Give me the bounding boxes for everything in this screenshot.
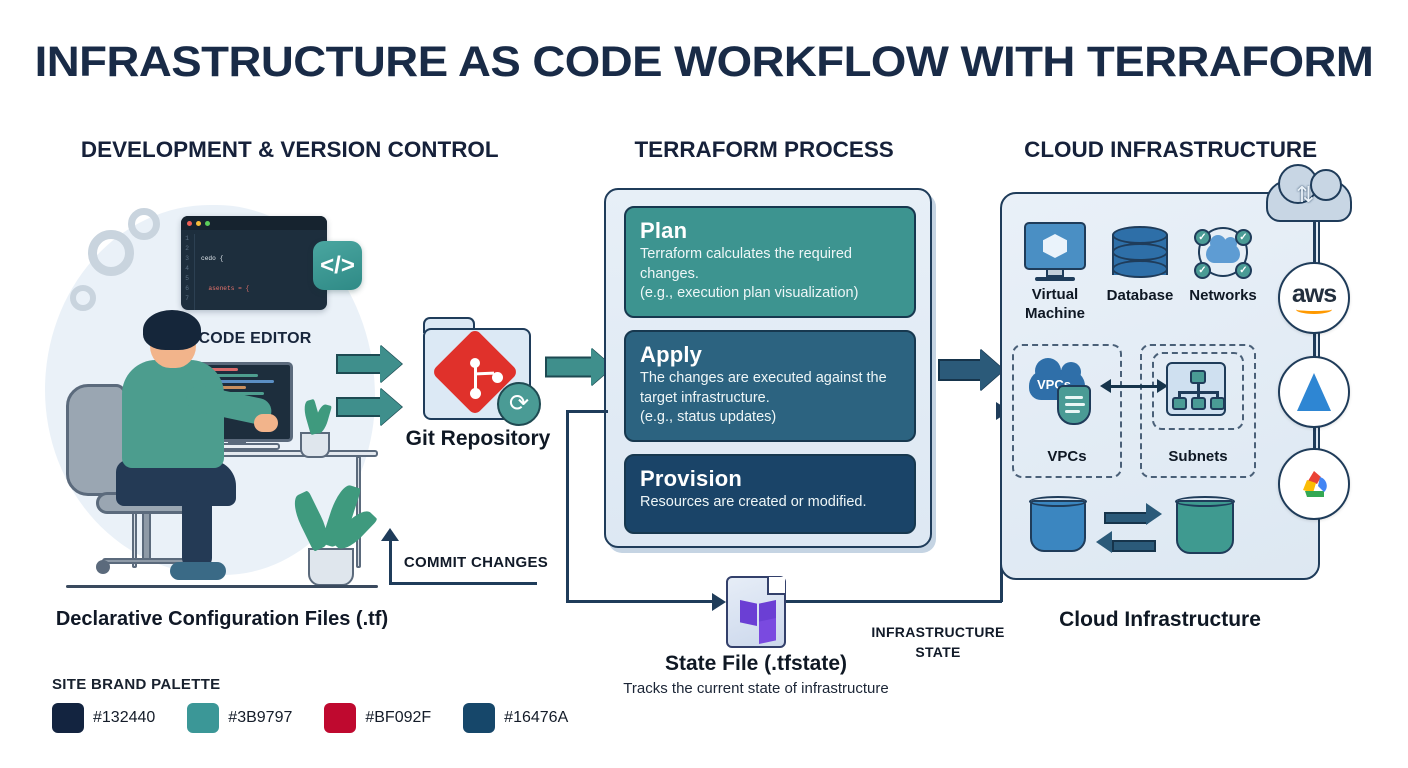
code-line: cedo {: [201, 254, 279, 264]
editor-titlebar: [181, 216, 327, 230]
state-connector-arrow: [712, 593, 726, 611]
arrow-dev-to-git-2: [336, 388, 404, 426]
process-card-provision[interactable]: Provision Resources are created or modif…: [624, 454, 916, 534]
palette-swatch: [324, 703, 356, 733]
gear-icon: [128, 208, 160, 240]
terraform-logo-icon: [759, 618, 776, 644]
state-connector-tap: [566, 410, 608, 413]
networks-icon: ✓ ✓ ✓ ✓: [1192, 226, 1254, 282]
resource-networks[interactable]: ✓ ✓ ✓ ✓ Networks: [1181, 226, 1265, 305]
palette-item: #132440: [52, 703, 155, 733]
process-card-apply[interactable]: Apply The changes are executed against t…: [624, 330, 916, 442]
plant-pot-icon: [308, 548, 354, 586]
bucket-arrow-left-head: [1096, 531, 1112, 553]
declarative-config-caption: Declarative Configuration Files (.tf): [52, 606, 392, 633]
vpc-subnet-bidirectional-arrow: [1110, 385, 1158, 388]
google-cloud-icon: [1294, 468, 1334, 500]
page-fold: [767, 577, 785, 595]
commit-connector-horizontal: [389, 582, 537, 585]
code-line: asenets = {: [201, 284, 279, 294]
palette-item: #BF092F: [324, 703, 431, 733]
line-number-gutter: 1 2 3 4 5 6 7: [181, 234, 195, 310]
section-heading-process: TERRAFORM PROCESS: [634, 137, 893, 163]
storage-bucket-teal-icon: [1176, 500, 1234, 554]
line-number: 7: [181, 294, 189, 304]
code-editor-window: 1 2 3 4 5 6 7 cedo { asenets = { name = …: [181, 216, 327, 310]
azure-logo[interactable]: [1278, 356, 1350, 428]
page-title: INFRASTRUCTURE AS CODE WORKFLOW WITH TER…: [0, 38, 1408, 87]
process-card-plan[interactable]: Plan Terraform calculates the required c…: [624, 206, 916, 318]
bucket-arrow-right-head: [1146, 503, 1162, 525]
line-number: 6: [181, 284, 189, 294]
arrow-dev-to-git-1: [336, 345, 404, 383]
line-number: 1: [181, 234, 189, 244]
infra-state-line-horizontal: [786, 600, 1002, 603]
resource-label: Database: [1098, 286, 1182, 305]
process-card-title: Provision: [640, 466, 900, 492]
state-connector-horizontal: [566, 600, 718, 603]
process-card-title: Apply: [640, 342, 900, 368]
commit-changes-label: COMMIT CHANGES: [398, 552, 554, 573]
palette-hex: #16476A: [504, 709, 568, 727]
gear-icon: [70, 285, 96, 311]
virtual-machine-icon: [1024, 222, 1086, 270]
resource-label: Virtual Machine: [1013, 285, 1097, 323]
terraform-logo-icon: [740, 600, 757, 626]
palette-hex: #3B9797: [228, 709, 292, 727]
process-card-title: Plan: [640, 218, 900, 244]
process-card-body: Terraform calculates the required change…: [640, 245, 900, 304]
sync-icon: ⟳: [497, 382, 541, 426]
chair-post: [142, 512, 151, 562]
process-card-body: Resources are created or modified.: [640, 493, 900, 513]
maximize-icon: [205, 221, 210, 226]
person-shin: [182, 490, 212, 568]
bucket-arrow-left: [1112, 540, 1156, 552]
code-area: 1 2 3 4 5 6 7 cedo { asenets = { name = …: [181, 230, 327, 310]
bucket-arrow-right: [1104, 512, 1148, 524]
palette-item: #16476A: [463, 703, 568, 733]
resource-label: Networks: [1181, 286, 1265, 305]
palette-swatch: [52, 703, 84, 733]
code-editor-label: CODE EDITOR: [181, 330, 329, 348]
process-card-body: The changes are executed against the tar…: [640, 369, 900, 428]
gear-icon: [88, 230, 134, 276]
git-repository-label: Git Repository: [400, 425, 556, 453]
section-heading-cloud: CLOUD INFRASTRUCTURE: [1024, 137, 1317, 163]
commit-connector-vertical: [389, 540, 392, 584]
database-icon: [1112, 226, 1168, 282]
state-file-icon: [726, 576, 786, 648]
shield-icon: [1057, 385, 1091, 425]
state-file-subtitle: Tracks the current state of infrastructu…: [620, 678, 892, 699]
person-hair: [143, 310, 201, 350]
palette-hex: #BF092F: [365, 709, 431, 727]
storage-bucket-blue-icon: [1030, 500, 1086, 552]
provider-connector-line: [1313, 222, 1316, 468]
minimize-icon: [196, 221, 201, 226]
line-number: 2: [181, 244, 189, 254]
palette-swatch: [463, 703, 495, 733]
state-connector-vertical: [566, 410, 569, 602]
google-cloud-logo[interactable]: [1278, 448, 1350, 520]
terraform-process-panel: Plan Terraform calculates the required c…: [604, 188, 932, 548]
line-number: 3: [181, 254, 189, 264]
state-file-title: State File (.tfstate): [620, 652, 892, 676]
section-heading-development: DEVELOPMENT & VERSION CONTROL: [81, 137, 499, 163]
commit-connector-arrow: [381, 528, 399, 541]
azure-icon: [1297, 373, 1331, 411]
line-number: 4: [181, 264, 189, 274]
palette-item: #3B9797: [187, 703, 292, 733]
floor-line: [66, 585, 378, 588]
resource-virtual-machine[interactable]: Virtual Machine: [1013, 222, 1097, 323]
aws-logo[interactable]: aws: [1278, 262, 1350, 334]
infographic-canvas: INFRASTRUCTURE AS CODE WORKFLOW WITH TER…: [0, 0, 1408, 768]
cloud-infrastructure-caption: Cloud Infrastructure: [1000, 608, 1320, 632]
resource-database[interactable]: Database: [1098, 226, 1182, 305]
palette-hex: #132440: [93, 709, 155, 727]
vpc-label: VPCs: [1012, 448, 1122, 465]
arrow-process-to-cloud: [938, 348, 1006, 392]
palette-title: SITE BRAND PALETTE: [52, 676, 220, 693]
palette-row: #132440 #3B9797 #BF092F #16476A: [52, 703, 590, 733]
upload-download-icon: ⇅: [1296, 182, 1314, 208]
code-brackets-icon: </>: [313, 241, 362, 290]
person-shoe: [170, 562, 226, 580]
close-icon: [187, 221, 192, 226]
aws-label: aws: [1292, 283, 1336, 305]
subnets-icon: [1166, 362, 1226, 416]
person-hand: [254, 414, 278, 432]
line-number: 5: [181, 274, 189, 284]
plant-pot-icon: [300, 432, 330, 458]
subnets-label: Subnets: [1140, 448, 1256, 465]
chair-caster: [96, 560, 110, 574]
palette-swatch: [187, 703, 219, 733]
code-text: cedo { asenets = { name = "Kuchnett" coc…: [195, 234, 279, 310]
